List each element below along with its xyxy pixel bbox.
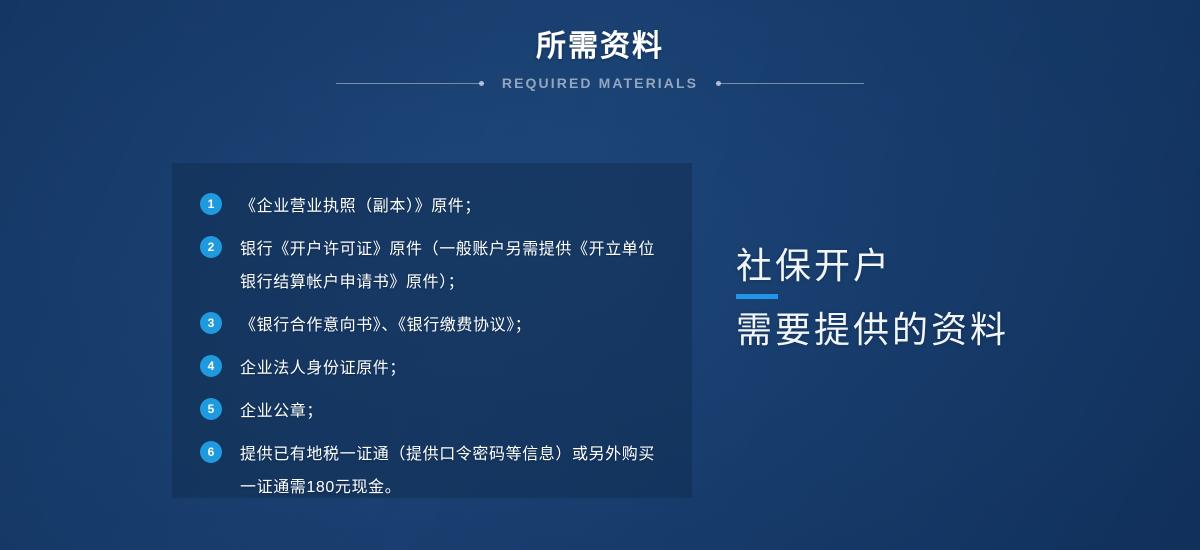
item-text: 《银行合作意向书》、《银行缴费协议》； <box>240 309 531 342</box>
item-text: 提供已有地税一证通（提供口令密码等信息）或另外购买一证通需180元现金。 <box>240 438 670 504</box>
list-item: 4 企业法人身份证原件； <box>200 352 670 385</box>
side-heading-line1: 社保开户 <box>736 244 1156 288</box>
line-dot-left-icon <box>479 81 484 86</box>
page-title: 所需资料 <box>0 28 1200 66</box>
item-number-badge: 5 <box>200 398 222 420</box>
list-item: 2 银行《开户许可证》原件（一般账户另需提供《开立单位银行结算帐户申请书》原件）… <box>200 233 670 299</box>
page-subtitle: REQUIRED MATERIALS <box>484 75 716 91</box>
accent-rule <box>736 294 778 299</box>
item-text: 企业公章； <box>240 395 323 428</box>
materials-list: 1 《企业营业执照（副本）》原件； 2 银行《开户许可证》原件（一般账户另需提供… <box>200 190 670 514</box>
subtitle-row: REQUIRED MATERIALS <box>0 73 1200 93</box>
item-number-badge: 3 <box>200 312 222 334</box>
item-number-badge: 2 <box>200 236 222 258</box>
side-heading: 社保开户 需要提供的资料 <box>736 244 1156 352</box>
banner: 所需资料 REQUIRED MATERIALS 1 《企业营业执照（副本）》原件… <box>0 0 1200 550</box>
header: 所需资料 REQUIRED MATERIALS <box>0 28 1200 93</box>
item-text: 企业法人身份证原件； <box>240 352 406 385</box>
decorative-line-right <box>716 83 864 84</box>
item-number-badge: 1 <box>200 193 222 215</box>
decorative-line-left <box>336 83 484 84</box>
side-heading-line2: 需要提供的资料 <box>736 308 1156 352</box>
list-item: 1 《企业营业执照（副本）》原件； <box>200 190 670 223</box>
item-text: 《企业营业执照（副本）》原件； <box>240 190 481 223</box>
materials-panel: 1 《企业营业执照（副本）》原件； 2 银行《开户许可证》原件（一般账户另需提供… <box>172 163 692 498</box>
list-item: 3 《银行合作意向书》、《银行缴费协议》； <box>200 309 670 342</box>
list-item: 5 企业公章； <box>200 395 670 428</box>
line-dot-right-icon <box>716 81 721 86</box>
list-item: 6 提供已有地税一证通（提供口令密码等信息）或另外购买一证通需180元现金。 <box>200 438 670 504</box>
item-number-badge: 4 <box>200 355 222 377</box>
item-number-badge: 6 <box>200 441 222 463</box>
item-text: 银行《开户许可证》原件（一般账户另需提供《开立单位银行结算帐户申请书》原件）； <box>240 233 670 299</box>
